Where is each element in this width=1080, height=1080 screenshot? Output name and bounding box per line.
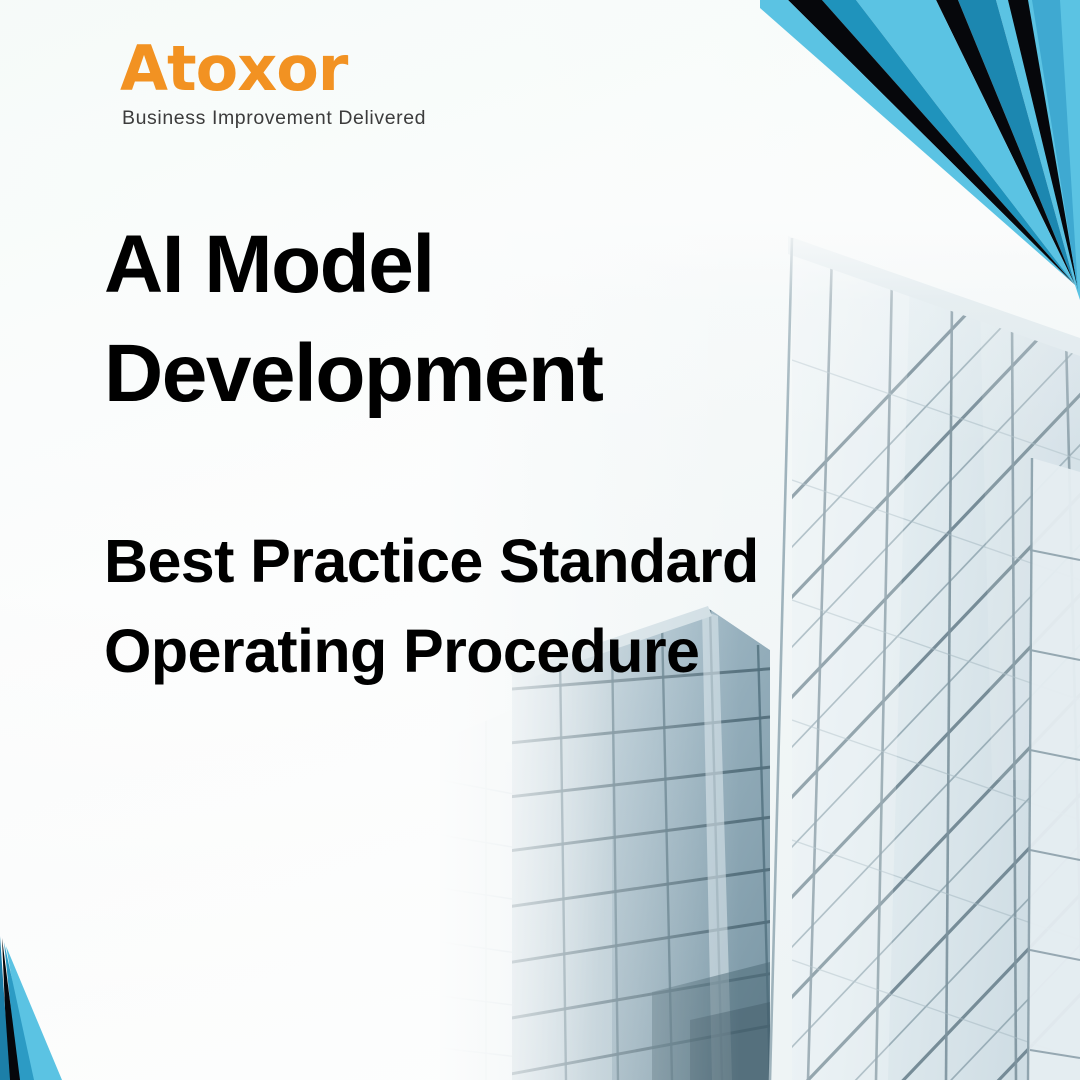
page-title: AI Model Development [104, 210, 664, 428]
logo-tagline: Business Improvement Delivered [122, 107, 450, 130]
page-subtitle: Best Practice Standard Operating Procedu… [104, 516, 764, 697]
brand-logo: Atoxor Business Improvement Delivered [120, 38, 450, 130]
poster-canvas: Atoxor Business Improvement Delivered AI… [0, 0, 1080, 1080]
logo-wordmark: Atoxor [120, 38, 450, 100]
title-block: AI Model Development Best Practice Stand… [104, 210, 804, 697]
